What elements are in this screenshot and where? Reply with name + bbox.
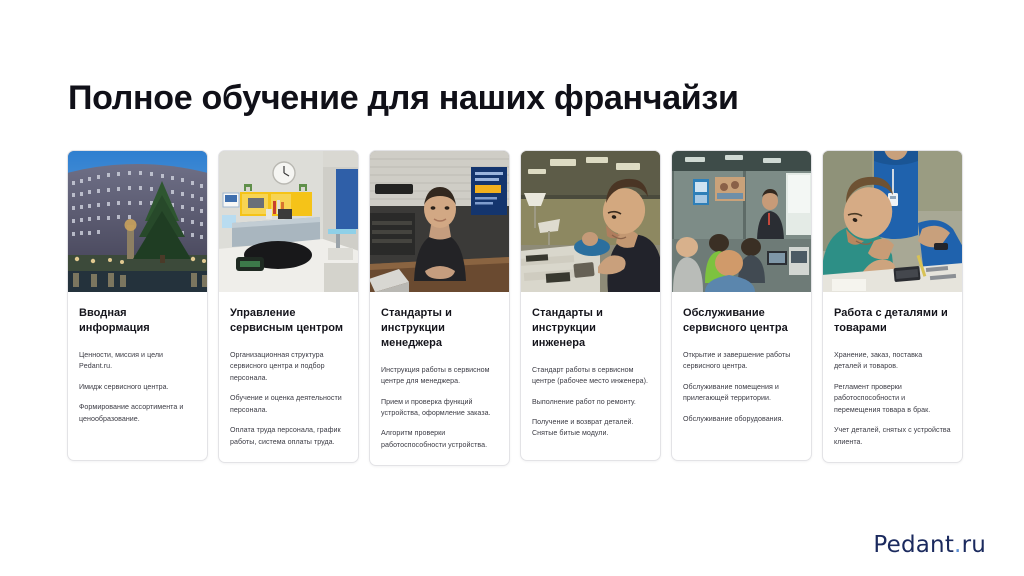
card-point: Прием и проверка функций устройства, офо… — [381, 397, 498, 420]
logo-dot: . — [954, 532, 962, 558]
training-modules-grid: Вводная информация Ценности, миссия и це… — [67, 150, 967, 466]
training-card[interactable]: Работа с деталями и товарами Хранение, з… — [822, 150, 963, 463]
card-point: Регламент проверки работоспособности и п… — [834, 382, 951, 416]
card-body: Стандарты и инструкции инженера Стандарт… — [521, 292, 660, 454]
technician-with-parts-photo — [823, 151, 962, 292]
slide-root: Полное обучение для наших франчайзи — [0, 0, 1024, 576]
card-point: Формирование ассортимента и ценообразова… — [79, 402, 196, 425]
card-point: Имидж сервисного центра. — [79, 382, 196, 393]
card-point: Оплата труда персонала, график работы, с… — [230, 425, 347, 448]
card-points: Стандарт работы в сервисном центре (рабо… — [532, 365, 649, 440]
card-heading: Управление сервисным центром — [230, 306, 347, 336]
card-heading: Стандарты и инструкции инженера — [532, 306, 649, 351]
card-point: Выполнение работ по ремонту. — [532, 397, 649, 408]
training-card[interactable]: Управление сервисным центром Организацио… — [218, 150, 359, 463]
card-body: Работа с деталями и товарами Хранение, з… — [823, 292, 962, 462]
card-point: Хранение, заказ, поставка деталей и това… — [834, 350, 951, 373]
training-card[interactable]: Обслуживание сервисного центра Открытие … — [671, 150, 812, 461]
training-card[interactable]: Стандарты и инструкции менеджера Инструк… — [369, 150, 510, 466]
manager-at-desk-photo — [370, 151, 509, 292]
card-points: Хранение, заказ, поставка деталей и това… — [834, 350, 951, 448]
training-card[interactable]: Вводная информация Ценности, миссия и це… — [67, 150, 208, 461]
card-heading: Обслуживание сервисного центра — [683, 306, 800, 336]
card-point: Получение и возврат деталей. Снятые биты… — [532, 417, 649, 440]
hotel-cosmos-building-photo — [68, 151, 207, 292]
pedant-logo: Pedant.ru — [873, 532, 986, 558]
card-point: Обслуживание помещения и прилегающей тер… — [683, 382, 800, 405]
engineer-at-workbench-photo — [521, 151, 660, 292]
card-heading: Работа с деталями и товарами — [834, 306, 951, 336]
card-body: Обслуживание сервисного центра Открытие … — [672, 292, 811, 439]
card-points: Инструкция работы в сервисном центре для… — [381, 365, 498, 452]
logo-tld: ru — [962, 532, 986, 558]
card-point: Учет деталей, снятых с устройства клиент… — [834, 425, 951, 448]
training-card[interactable]: Стандарты и инструкции инженера Стандарт… — [520, 150, 661, 461]
card-heading: Вводная информация — [79, 306, 196, 336]
card-body: Стандарты и инструкции менеджера Инструк… — [370, 292, 509, 465]
card-body: Вводная информация Ценности, миссия и це… — [68, 292, 207, 439]
card-heading: Стандарты и инструкции менеджера — [381, 306, 498, 351]
card-point: Обслуживание оборудования. — [683, 414, 800, 425]
card-point: Ценности, миссия и цели Pedant.ru. — [79, 350, 196, 373]
service-center-interior-photo — [219, 151, 358, 292]
card-point: Обучение и оценка деятельности персонала… — [230, 393, 347, 416]
card-point: Организационная структура сервисного цен… — [230, 350, 347, 384]
card-points: Открытие и завершение работы сервисного … — [683, 350, 800, 425]
training-classroom-photo — [672, 151, 811, 292]
card-points: Ценности, миссия и цели Pedant.ru. Имидж… — [79, 350, 196, 425]
page-title: Полное обучение для наших франчайзи — [68, 79, 739, 118]
logo-name: Pedant — [873, 532, 954, 558]
card-point: Стандарт работы в сервисном центре (рабо… — [532, 365, 649, 388]
card-point: Алгоритм проверки работоспособности устр… — [381, 428, 498, 451]
card-point: Инструкция работы в сервисном центре для… — [381, 365, 498, 388]
card-point: Открытие и завершение работы сервисного … — [683, 350, 800, 373]
card-points: Организационная структура сервисного цен… — [230, 350, 347, 448]
card-body: Управление сервисным центром Организацио… — [219, 292, 358, 462]
